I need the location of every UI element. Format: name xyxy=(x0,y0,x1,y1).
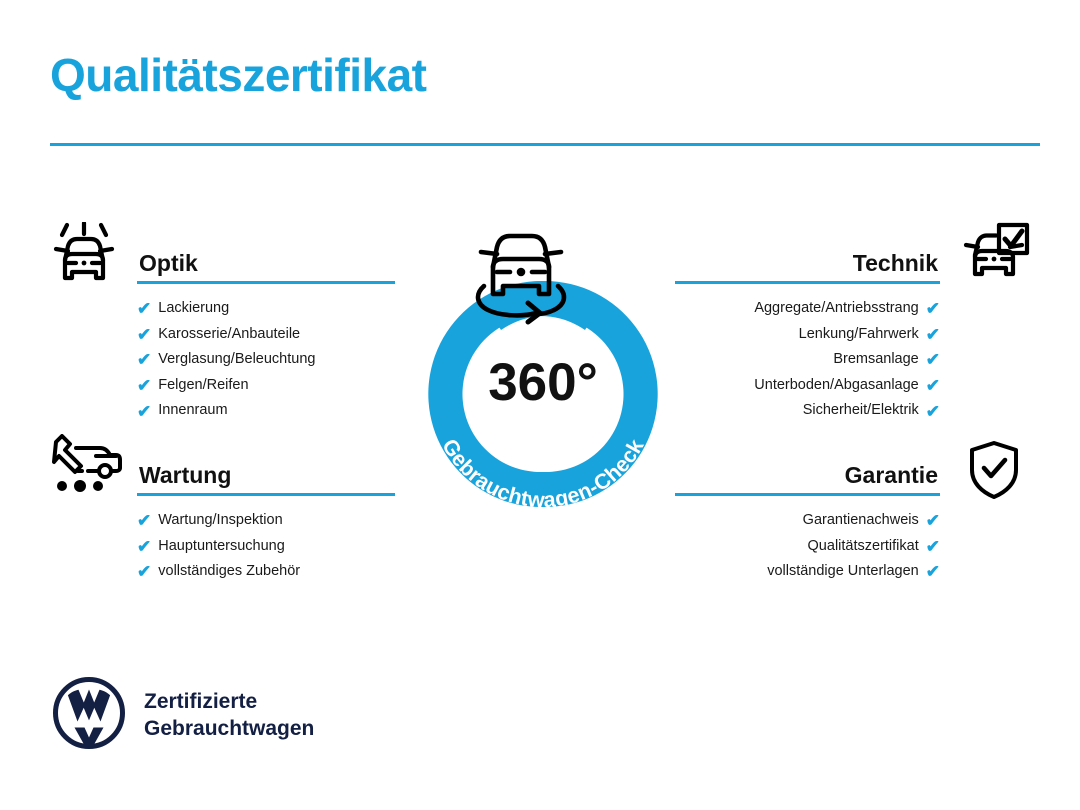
check-icon: ✔ xyxy=(926,351,940,368)
list-item-label: Lenkung/Fahrwerk xyxy=(799,322,919,348)
section-technik-header: Technik xyxy=(675,240,940,284)
list-item: ✔vollständiges Zubehör xyxy=(137,559,395,585)
footer-line-1: Zertifizierte xyxy=(144,689,314,716)
car-checkbox-icon xyxy=(962,222,1030,291)
list-item: ✔Hauptuntersuchung xyxy=(137,534,395,560)
check-icon: ✔ xyxy=(137,377,151,394)
section-garantie-header: Garantie xyxy=(675,452,940,496)
section-garantie-divider xyxy=(675,493,940,496)
check-icon: ✔ xyxy=(137,300,151,317)
check-icon: ✔ xyxy=(926,403,940,420)
check-icon: ✔ xyxy=(137,538,151,555)
list-item-label: Lackierung xyxy=(158,296,229,322)
section-technik-list: Aggregate/Antriebsstrang✔ Lenkung/Fahrwe… xyxy=(675,296,940,424)
list-item-label: Verglasung/Beleuchtung xyxy=(158,347,315,373)
check-icon: ✔ xyxy=(926,377,940,394)
list-item-label: vollständiges Zubehör xyxy=(158,559,300,585)
check-icon: ✔ xyxy=(926,300,940,317)
section-technik-title: Technik xyxy=(853,252,938,275)
section-optik-header: Optik xyxy=(137,240,395,284)
shield-check-icon xyxy=(968,440,1020,505)
section-garantie-list: Garantienachweis✔ Qualitätszertifikat✔ v… xyxy=(675,508,940,585)
title-divider xyxy=(50,143,1040,146)
list-item: Bremsanlage✔ xyxy=(675,347,940,373)
list-item: ✔Karosserie/Anbauteile xyxy=(137,322,395,348)
list-item: ✔Innenraum xyxy=(137,398,395,424)
list-item-label: Innenraum xyxy=(158,398,227,424)
check-icon: ✔ xyxy=(926,512,940,529)
footer-text: Zertifizierte Gebrauchtwagen xyxy=(144,689,314,743)
list-item: Aggregate/Antriebsstrang✔ xyxy=(675,296,940,322)
section-wartung-divider xyxy=(137,493,395,496)
car-shine-icon xyxy=(48,222,120,293)
vw-certified-footer: Zertifizierte Gebrauchtwagen xyxy=(52,676,314,755)
wrench-car-icon xyxy=(48,434,124,499)
list-item-label: Wartung/Inspektion xyxy=(158,508,282,534)
list-item: ✔Lackierung xyxy=(137,296,395,322)
section-optik: Optik ✔Lackierung ✔Karosserie/Anbauteile… xyxy=(137,240,395,424)
page-title: Qualitätszertifikat xyxy=(50,50,427,101)
section-garantie-title: Garantie xyxy=(845,464,938,487)
list-item-label: vollständige Unterlagen xyxy=(767,559,919,585)
section-technik: Technik Aggregate/Antriebsstrang✔ Lenkun… xyxy=(675,240,940,424)
check-icon: ✔ xyxy=(926,538,940,555)
section-garantie: Garantie Garantienachweis✔ Qualitätszert… xyxy=(675,452,940,585)
list-item-label: Felgen/Reifen xyxy=(158,373,248,399)
check-icon: ✔ xyxy=(137,563,151,580)
list-item: Qualitätszertifikat✔ xyxy=(675,534,940,560)
section-optik-list: ✔Lackierung ✔Karosserie/Anbauteile ✔Verg… xyxy=(137,296,395,424)
list-item-label: Karosserie/Anbauteile xyxy=(158,322,300,348)
section-technik-divider xyxy=(675,281,940,284)
check-icon: ✔ xyxy=(137,326,151,343)
check-icon: ✔ xyxy=(137,512,151,529)
list-item: ✔Felgen/Reifen xyxy=(137,373,395,399)
footer-line-2: Gebrauchtwagen xyxy=(144,716,314,743)
section-wartung: Wartung ✔Wartung/Inspektion ✔Hauptunters… xyxy=(137,452,395,585)
list-item: ✔Wartung/Inspektion xyxy=(137,508,395,534)
list-item: Garantienachweis✔ xyxy=(675,508,940,534)
section-optik-divider xyxy=(137,281,395,284)
list-item-label: Qualitätszertifikat xyxy=(808,534,919,560)
list-item: Unterboden/Abgasanlage✔ xyxy=(675,373,940,399)
list-item-label: Garantienachweis xyxy=(803,508,919,534)
list-item-label: Aggregate/Antriebsstrang xyxy=(754,296,918,322)
section-wartung-title: Wartung xyxy=(139,464,231,487)
badge-360-gebrauchtwagen-check: Gebrauchtwagen-Check 360° xyxy=(398,212,688,512)
list-item-label: Sicherheit/Elektrik xyxy=(803,398,919,424)
section-wartung-header: Wartung xyxy=(137,452,395,496)
list-item-label: Hauptuntersuchung xyxy=(158,534,285,560)
section-wartung-list: ✔Wartung/Inspektion ✔Hauptuntersuchung ✔… xyxy=(137,508,395,585)
check-icon: ✔ xyxy=(137,403,151,420)
check-icon: ✔ xyxy=(926,563,940,580)
list-item-label: Unterboden/Abgasanlage xyxy=(754,373,918,399)
check-icon: ✔ xyxy=(926,326,940,343)
check-icon: ✔ xyxy=(137,351,151,368)
list-item: ✔Verglasung/Beleuchtung xyxy=(137,347,395,373)
vw-logo-icon xyxy=(52,676,126,755)
list-item: Lenkung/Fahrwerk✔ xyxy=(675,322,940,348)
section-optik-title: Optik xyxy=(139,252,198,275)
badge-center-label: 360° xyxy=(488,353,598,412)
list-item-label: Bremsanlage xyxy=(833,347,918,373)
list-item: vollständige Unterlagen✔ xyxy=(675,559,940,585)
list-item: Sicherheit/Elektrik✔ xyxy=(675,398,940,424)
